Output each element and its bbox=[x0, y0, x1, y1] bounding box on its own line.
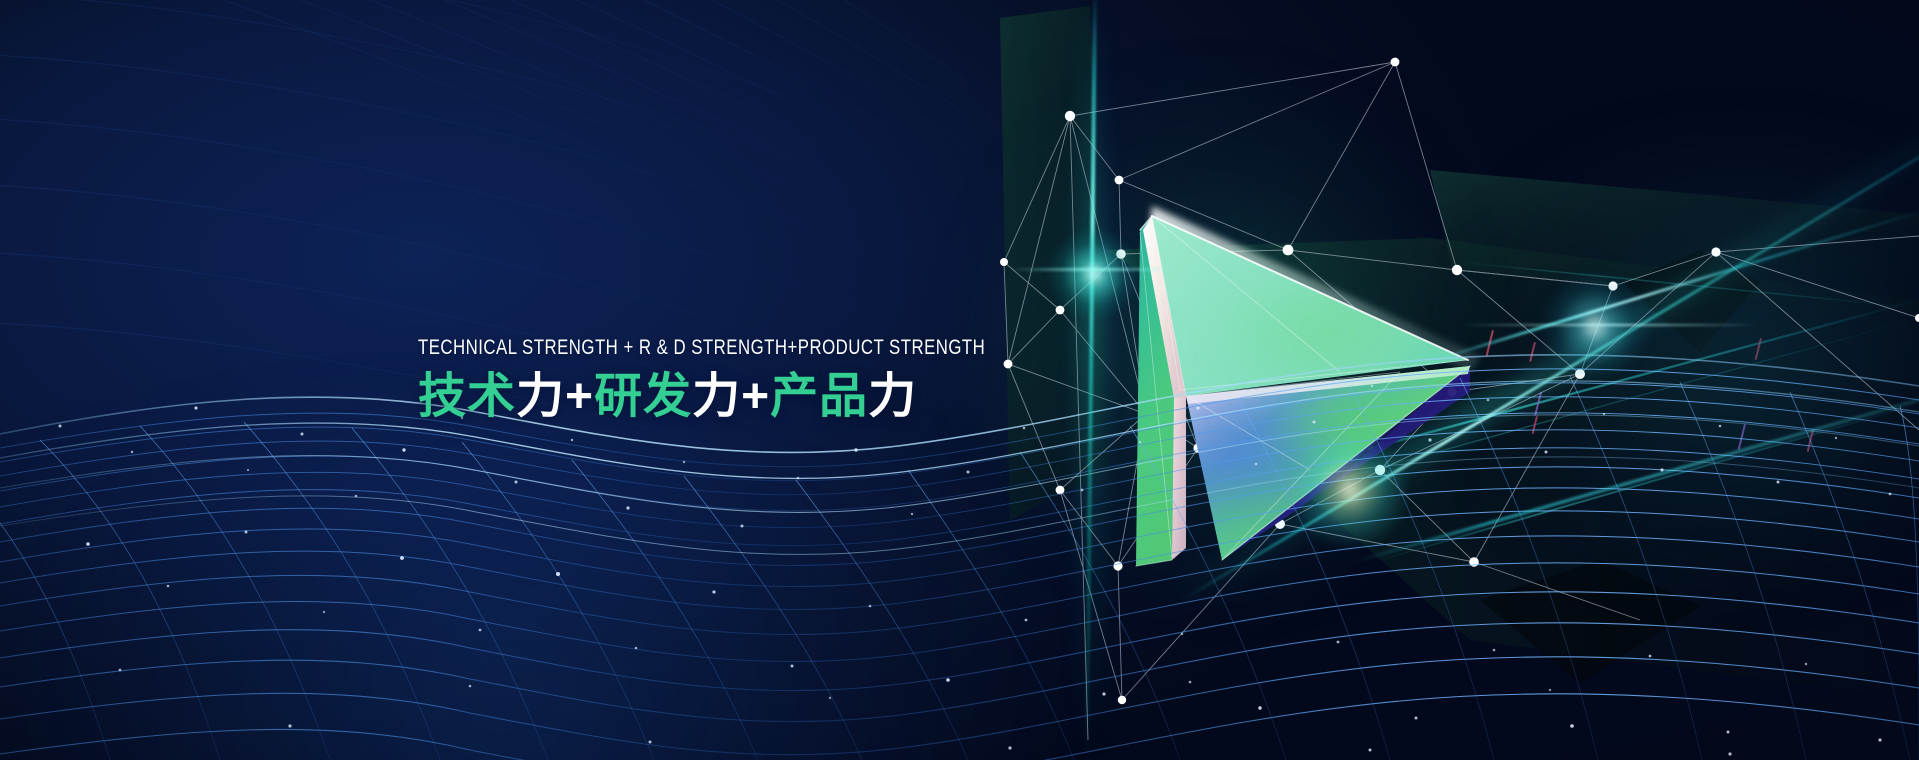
headline-part-4: 力+ bbox=[692, 370, 770, 423]
headline-part-3: 研发 bbox=[594, 370, 692, 423]
hero-headline: 技术力+研发力+产品力 bbox=[418, 369, 1127, 425]
hero-banner: TECHNICAL STRENGTH + R & D STRENGTH+PROD… bbox=[0, 0, 1919, 760]
hero-eyebrow: TECHNICAL STRENGTH + R & D STRENGTH+PROD… bbox=[418, 336, 985, 360]
headline-part-1: 技术 bbox=[418, 370, 516, 423]
hero-text-block: TECHNICAL STRENGTH + R & D STRENGTH+PROD… bbox=[418, 336, 1127, 425]
headline-part-6: 力 bbox=[868, 370, 917, 423]
headline-part-5: 产品 bbox=[770, 370, 868, 423]
headline-part-2: 力+ bbox=[516, 370, 594, 423]
